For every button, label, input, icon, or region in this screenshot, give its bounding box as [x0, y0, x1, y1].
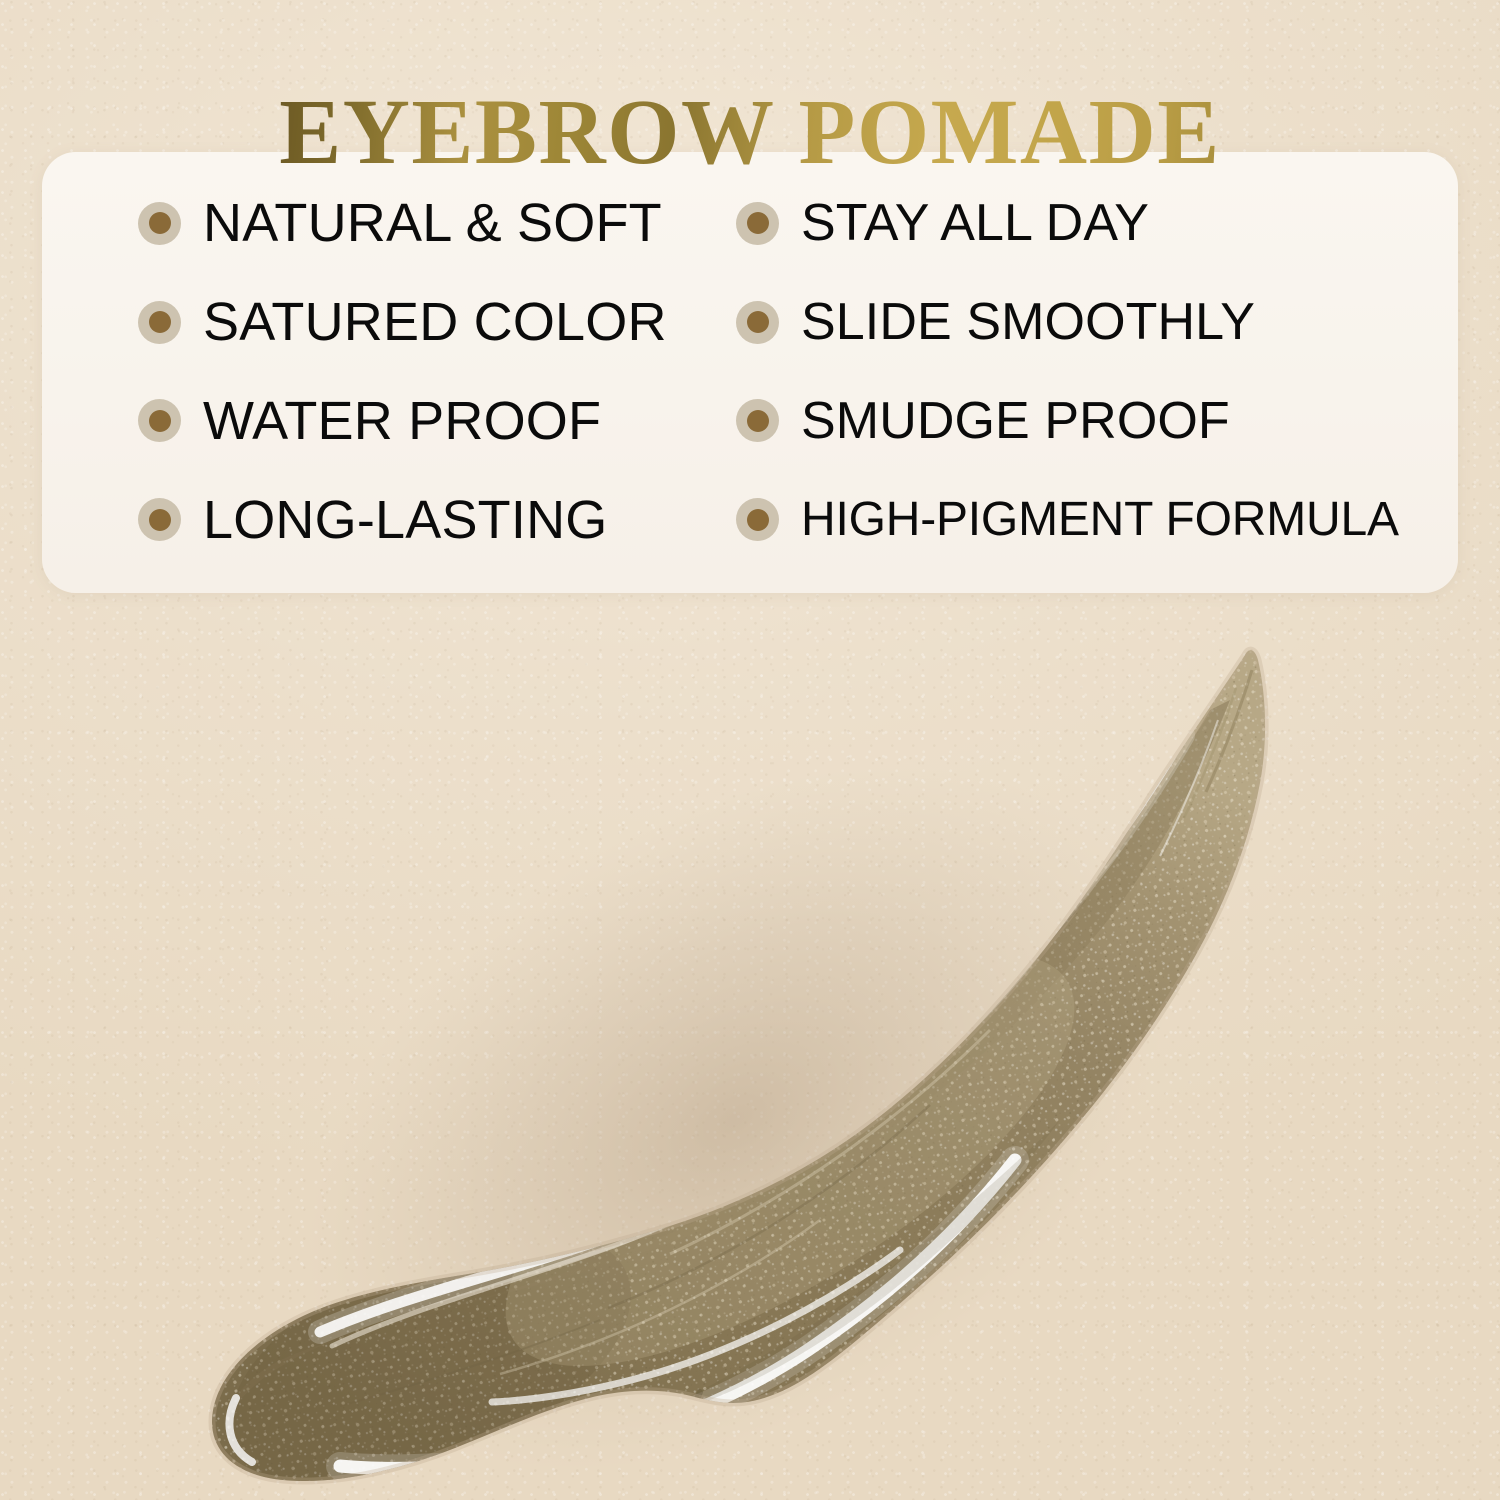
bullet-point-icon: [138, 301, 181, 344]
eyebrow-pomade-swatch: [0, 560, 1500, 1500]
feature-item-high-pigment-formula: HIGH-PIGMENT FORMULA: [642, 470, 1458, 569]
bullet-point-icon: [736, 301, 779, 344]
bullet-point-icon: [736, 498, 779, 541]
page-title-container: EYEBROW POMADE: [0, 22, 1500, 244]
feature-label: HIGH-PIGMENT FORMULA: [801, 492, 1399, 547]
pomade-swatch-stage: [0, 560, 1500, 1500]
feature-item-long-lasting: LONG-LASTING: [42, 470, 642, 569]
feature-item-slide-smoothly: SLIDE SMOOTHLY: [642, 273, 1458, 372]
feature-label: LONG-LASTING: [203, 489, 607, 551]
feature-label: SLIDE SMOOTHLY: [801, 292, 1255, 352]
feature-label: SATURED COLOR: [203, 291, 667, 353]
feature-item-smudge-proof: SMUDGE PROOF: [642, 372, 1458, 471]
bullet-point-icon: [138, 498, 181, 541]
feature-label: WATER PROOF: [203, 390, 601, 452]
feature-item-satured-color: SATURED COLOR: [42, 273, 642, 372]
bullet-point-icon: [138, 399, 181, 442]
product-feature-graphic: EYEBROW POMADE NATURAL & SOFT STAY ALL D…: [0, 0, 1500, 1500]
feature-item-water-proof: WATER PROOF: [42, 372, 642, 471]
page-title: EYEBROW POMADE: [279, 84, 1221, 182]
feature-label: SMUDGE PROOF: [801, 391, 1230, 451]
bullet-point-icon: [736, 399, 779, 442]
